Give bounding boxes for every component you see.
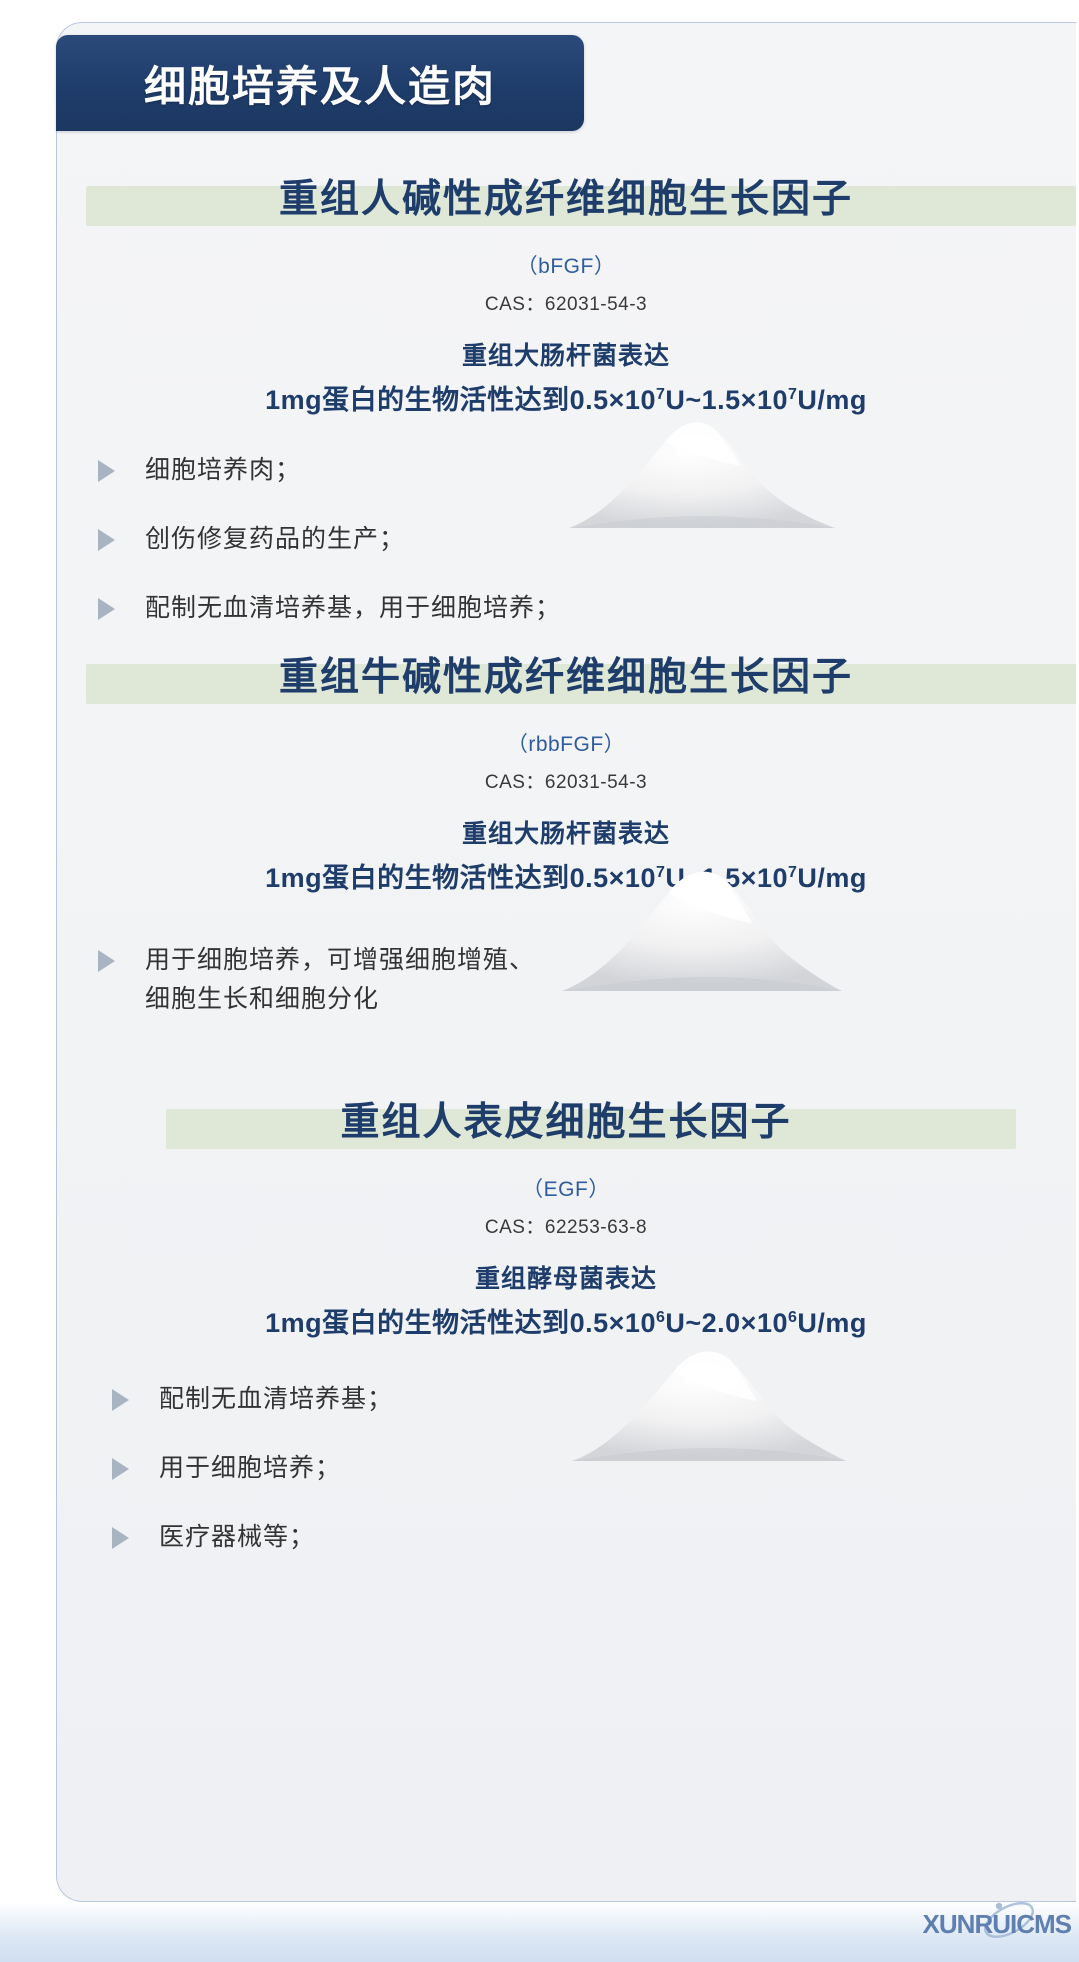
list-item: 创伤修复药品的生产； [56,520,1076,559]
banner-title: 细胞培养及人造肉 [144,53,496,114]
list-item: 细胞培养肉； [56,451,1076,490]
section-expression: 重组大肠杆菌表达 [56,814,1076,850]
list-item-label: 用于细胞培养； [159,1449,341,1488]
section-cas: CAS：62031-54-3 [56,289,1076,316]
activity-post: U/mg [797,1308,867,1338]
section-expression: 重组大肠杆菌表达 [56,336,1076,372]
watermark-text: XUNRUICMS [923,1909,1071,1940]
list-item: 配制无血清培养基，用于细胞培养； [56,589,1076,628]
activity-post: U/mg [797,863,867,893]
triangle-bullet-icon [112,1458,129,1480]
list-item-label: 用于细胞培养，可增强细胞增殖、 细胞生长和细胞分化 [145,941,535,1019]
section-activity: 1mg蛋白的生物活性达到0.5×106U~2.0×106U/mg [56,1301,1076,1340]
triangle-bullet-icon [112,1389,129,1411]
list-item-label: 医疗器械等； [159,1518,315,1557]
list-item: 用于细胞培养； [56,1449,1076,1488]
list-item-label: 细胞培养肉； [145,451,301,490]
activity-post: U/mg [797,385,867,415]
section-title-block: 重组牛碱性成纤维细胞生长因子 [56,638,1076,712]
section-abbreviation: （EGF） [56,1173,1076,1203]
activity-mid: U~2.0×10 [665,1308,788,1338]
activity-mid: U~1.5×10 [665,385,788,415]
activity-exp-1: 7 [656,386,665,403]
list-item-label: 配制无血清培养基，用于细胞培养； [145,589,561,628]
list-item-label: 配制无血清培养基； [159,1380,393,1419]
activity-mid: U~1.5×10 [665,863,788,893]
section-title: 重组牛碱性成纤维细胞生长因子 [56,646,1076,702]
bullet-list: 配制无血清培养基； 用于细胞培养； 医疗器械等； [56,1380,1076,1556]
triangle-bullet-icon [98,950,115,972]
activity-exp-2: 7 [788,386,797,403]
section-cas: CAS：62253-63-8 [56,1212,1076,1239]
section-expression: 重组酵母菌表达 [56,1259,1076,1295]
activity-exp-1: 7 [656,864,665,881]
list-item: 用于细胞培养，可增强细胞增殖、 细胞生长和细胞分化 [56,941,1076,1019]
section-title-block: 重组人碱性成纤维细胞生长因子 [56,160,1076,234]
bullet-list: 用于细胞培养，可增强细胞增殖、 细胞生长和细胞分化 [56,941,1076,1019]
triangle-bullet-icon [98,460,115,482]
triangle-bullet-icon [98,529,115,551]
section-abbreviation: （bFGF） [56,250,1076,280]
list-item: 配制无血清培养基； [56,1380,1076,1419]
poster-root: 细胞培养及人造肉 重组人碱性成纤维细胞生长因子 （bFGF） CAS：62031… [0,0,1079,1962]
section-activity: 1mg蛋白的生物活性达到0.5×107U~1.5×107U/mg [56,378,1076,417]
section-abbreviation: （rbbFGF） [56,728,1076,758]
section-title: 重组人表皮细胞生长因子 [56,1091,1076,1147]
triangle-bullet-icon [112,1527,129,1549]
triangle-bullet-icon [98,598,115,620]
activity-pre: 1mg蛋白的生物活性达到0.5×10 [265,1308,656,1338]
section-cas: CAS：62031-54-3 [56,767,1076,794]
list-item: 医疗器械等； [56,1518,1076,1557]
product-section-bfgf: 重组人碱性成纤维细胞生长因子 （bFGF） CAS：62031-54-3 重组大… [56,160,1076,657]
bullet-list: 细胞培养肉； 创伤修复药品的生产； 配制无血清培养基，用于细胞培养； [56,451,1076,627]
activity-pre: 1mg蛋白的生物活性达到0.5×10 [265,863,656,893]
header-banner: 细胞培养及人造肉 [56,35,584,131]
section-title: 重组人碱性成纤维细胞生长因子 [56,168,1076,224]
activity-pre: 1mg蛋白的生物活性达到0.5×10 [265,385,656,415]
activity-exp-2: 7 [788,864,797,881]
product-section-rbbfgf: 重组牛碱性成纤维细胞生长因子 （rbbFGF） CAS：62031-54-3 重… [56,638,1076,1049]
section-activity: 1mg蛋白的生物活性达到0.5×107U~1.5×107U/mg [56,856,1076,895]
section-title-block: 重组人表皮细胞生长因子 [56,1083,1076,1157]
list-item-label: 创伤修复药品的生产； [145,520,405,559]
activity-exp-1: 6 [656,1309,665,1326]
activity-exp-2: 6 [788,1309,797,1326]
product-section-egf: 重组人表皮细胞生长因子 （EGF） CAS：62253-63-8 重组酵母菌表达… [56,1083,1076,1586]
